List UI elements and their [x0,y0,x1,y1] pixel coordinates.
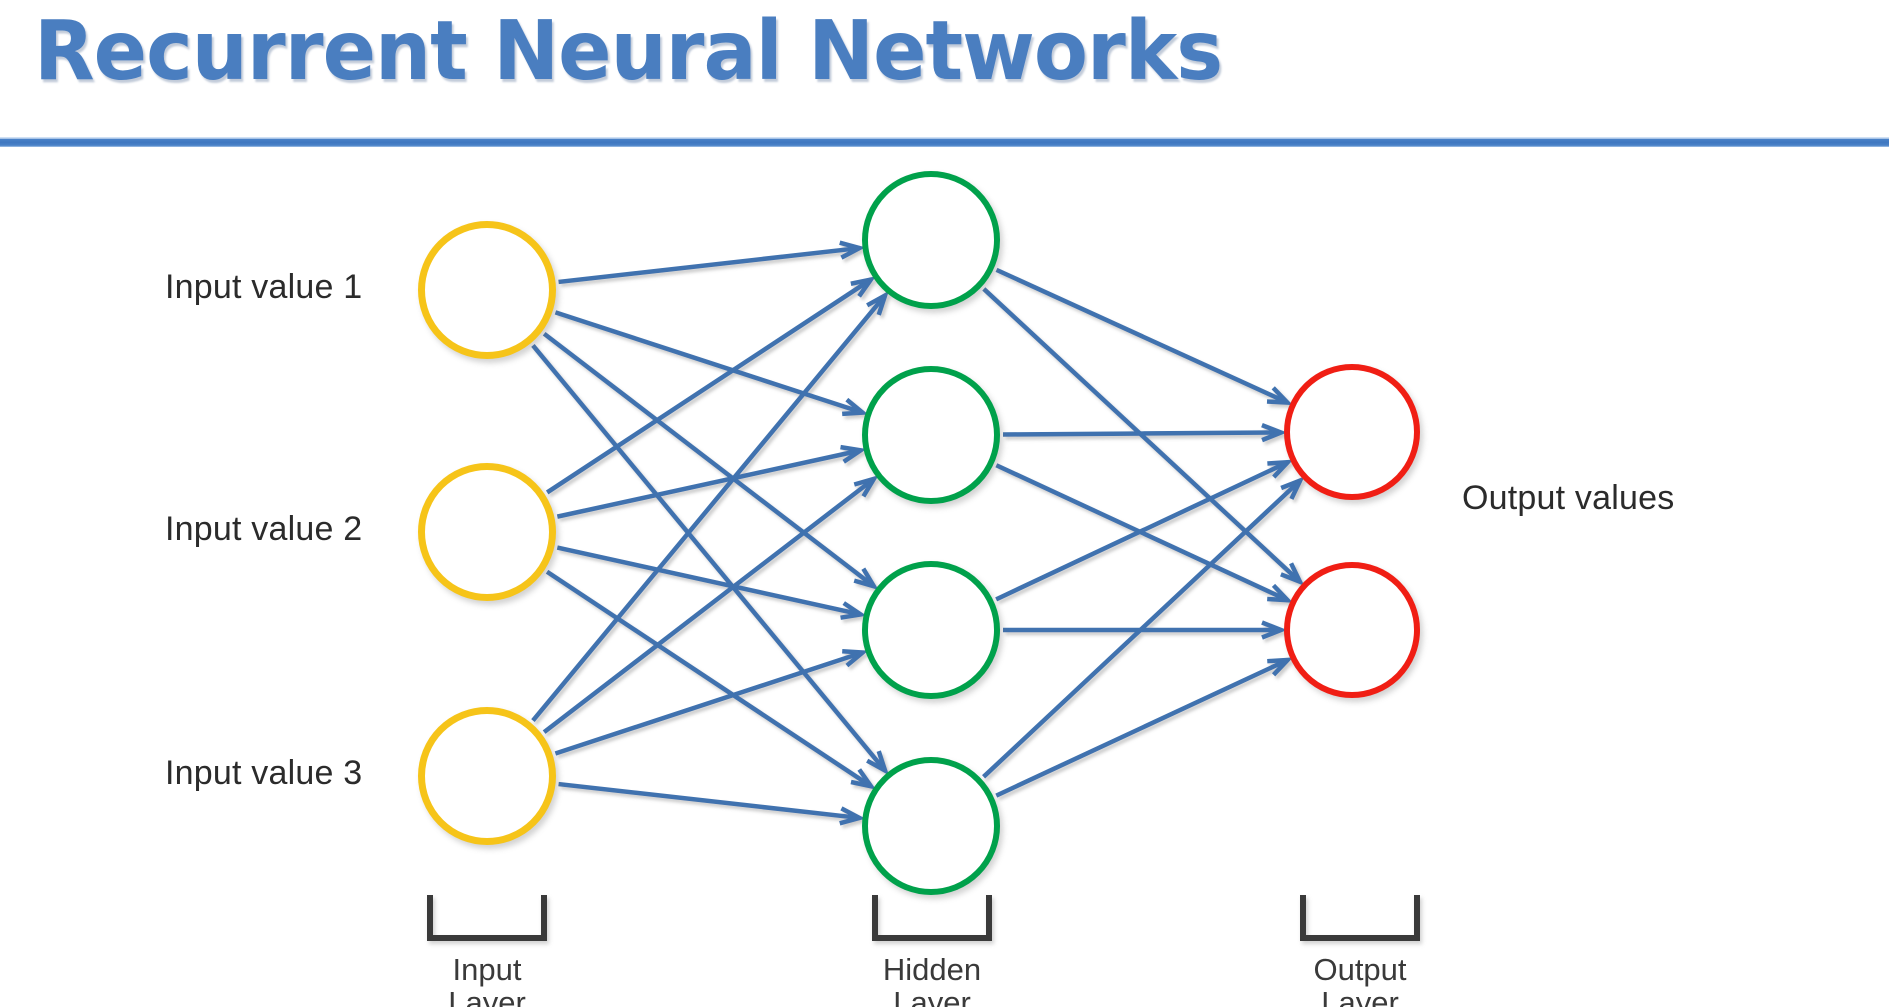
input-node-3 [418,707,556,845]
edge-hidden1-output1 [997,270,1288,403]
hidden-node-1 [862,171,1000,309]
caption-hidden-line1: Hidden [822,953,1042,986]
input-label-3: Input value 3 [165,754,362,793]
input-label-2: Input value 2 [165,510,362,549]
title-divider [0,137,1889,147]
caption-input-layer: InputLayer [377,953,597,1007]
caption-output-line1: Output [1250,953,1470,986]
caption-hidden-layer: HiddenLayer [822,953,1042,1007]
bracket-hidden-layer [872,895,992,941]
output-node-1 [1284,364,1420,500]
neural-network-diagram: Input value 1 Input value 2 Input value … [0,150,1889,1007]
input-node-2 [418,463,556,601]
connection-edges [533,243,1300,824]
title-block: Recurrent Neural Networks [0,0,1889,150]
page-title: Recurrent Neural Networks [34,6,1222,98]
caption-output-line2: Layer [1250,986,1470,1007]
edge-input3-hidden4 [559,784,860,823]
edge-input3-hidden1 [533,295,885,720]
hidden-node-2 [862,366,1000,504]
output-values-label: Output values [1462,479,1674,518]
input-label-1: Input value 1 [165,268,362,307]
output-node-2 [1284,562,1420,698]
caption-output-layer: OutputLayer [1250,953,1470,1007]
edge-hidden4-output2 [996,660,1287,796]
hidden-node-4 [862,757,1000,895]
bracket-input-layer [427,895,547,941]
caption-hidden-line2: Layer [822,986,1042,1007]
hidden-node-3 [862,561,1000,699]
edge-input1-hidden1 [559,243,860,282]
edge-input1-hidden4 [533,345,885,770]
edge-input1-hidden2 [555,312,862,414]
edge-input3-hidden3 [555,651,862,753]
bracket-output-layer [1300,895,1420,941]
caption-input-line1: Input [377,953,597,986]
input-node-1 [418,221,556,359]
slide-root: Recurrent Neural Networks Input value 1 … [0,0,1889,1007]
caption-input-line2: Layer [377,986,597,1007]
